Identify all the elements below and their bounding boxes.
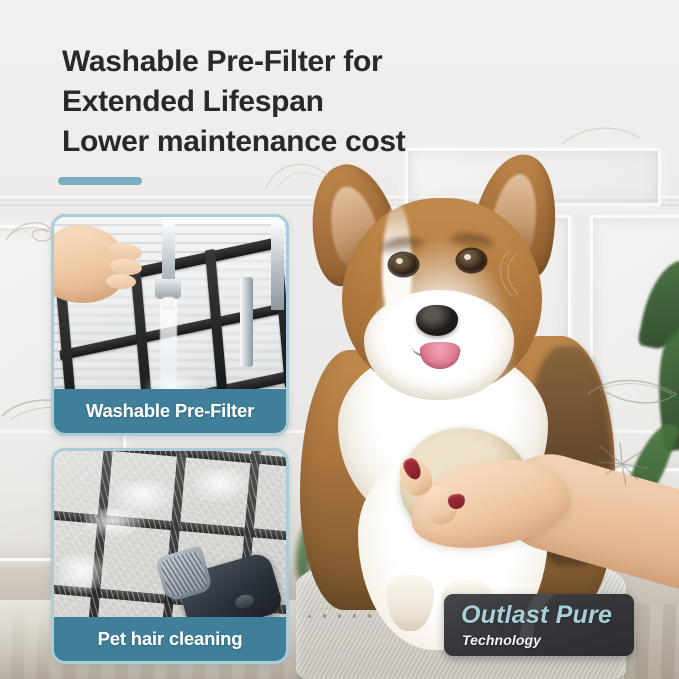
badge-brand-name: Outlast Pure <box>461 601 612 630</box>
floating-hair-tuft <box>594 440 650 488</box>
badge-subtitle: Technology <box>462 632 541 648</box>
faucet-spout <box>155 279 181 299</box>
hair-clump <box>194 469 252 505</box>
panel-photo-washable: Washable Pre-Filter <box>54 217 286 433</box>
hair-clump <box>58 555 110 595</box>
accent-underline-bar <box>58 177 142 185</box>
headline-line-2: Extended Lifespan <box>62 82 582 122</box>
headline-line-3: Lower maintenance cost <box>62 122 582 162</box>
feature-panel-pet-hair-cleaning[interactable]: Pet hair cleaning <box>51 448 289 664</box>
panel-photo-pet-hair: Pet hair cleaning <box>54 451 286 661</box>
feature-panel-washable-pre-filter[interactable]: Washable Pre-Filter <box>51 214 289 436</box>
brand-badge: Outlast Pure Technology <box>444 594 634 656</box>
headline: Washable Pre-Filter for Extended Lifespa… <box>62 42 582 162</box>
panel-caption-washable-pre-filter: Washable Pre-Filter <box>54 389 286 433</box>
dog-eye-left <box>390 254 417 275</box>
faucet-column <box>240 277 253 367</box>
panel-caption-pet-hair-cleaning: Pet hair cleaning <box>54 617 286 661</box>
floating-hair-strand <box>486 248 534 302</box>
floating-hair-strand <box>586 372 679 414</box>
product-feature-image: Washable Pre-Filter for Extended Lifespa… <box>0 0 679 679</box>
dog-nose <box>416 305 458 336</box>
dog-eye-right <box>458 250 485 271</box>
headline-line-1: Washable Pre-Filter for <box>62 42 582 82</box>
hair-clump <box>84 509 148 539</box>
